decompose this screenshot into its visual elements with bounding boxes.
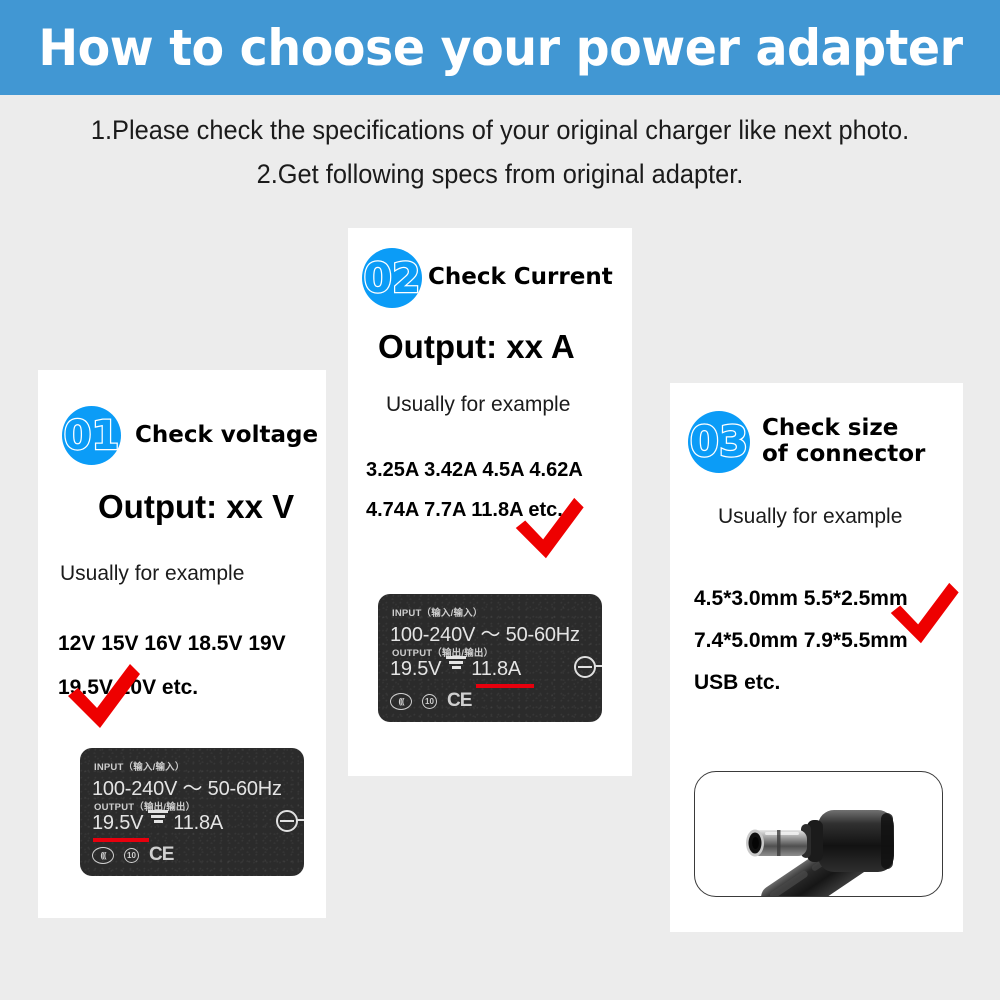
card1-plate-input-label: INPUT（输入/输入） <box>94 759 185 773</box>
center-negative-polarity-icon <box>574 656 596 678</box>
card1-header: 01 Check voltage <box>62 406 318 465</box>
card1-plate-output-row: 19.5V 11.8A <box>92 812 223 835</box>
card1-output-line: Output: xx V <box>98 488 294 526</box>
step-badge-03: 03 <box>688 411 750 473</box>
card2-header: 02 Check Current <box>362 248 613 308</box>
card1-plate-input-value: 100-240V ～ 50-60Hz <box>92 772 282 801</box>
dc-barrel-plug-illustration <box>695 772 943 897</box>
card3-examples: 4.5*3.0mm 5.5*2.5mm 7.4*5.0mm 7.9*5.5mm … <box>694 578 908 704</box>
ccc-mark-icon: ((( <box>92 847 114 864</box>
card1-heading: Check voltage <box>135 423 318 449</box>
step-badge-02: 02 <box>362 248 422 308</box>
card2-plate-input-label: INPUT（输入/输入） <box>392 605 483 619</box>
card1-cert-marks: ((( 10 CE <box>92 844 173 866</box>
page-title: How to choose your power adapter <box>38 19 962 77</box>
card3-heading: Check size of connector <box>762 416 925 468</box>
card1-plate-output-voltage: 19.5V <box>92 812 143 835</box>
ten-mark-icon: 10 <box>124 848 139 863</box>
dc-current-icon <box>148 810 168 825</box>
card3-example-row-1: 4.5*3.0mm 5.5*2.5mm <box>694 578 908 620</box>
card1-adapter-label-plate: INPUT（输入/输入） 100-240V ～ 50-60Hz OUTPUT（输… <box>80 748 304 876</box>
card2-example-row-1: 3.25A 3.42A 4.5A 4.62A <box>366 450 583 490</box>
card2-plate-output-label: OUTPUT（输出/输出） <box>392 645 493 659</box>
card3-example-row-2: 7.4*5.0mm 7.9*5.5mm <box>694 620 908 662</box>
card2-example-row-2: 4.74A 7.7A 11.8A etc. <box>366 490 583 530</box>
card3-example-row-3: USB etc. <box>694 662 908 704</box>
intro-line-1: 1.Please check the specifications of you… <box>30 108 970 152</box>
card2-usually-label: Usually for example <box>386 393 570 417</box>
card2-cert-marks: ((( 10 CE <box>390 690 471 712</box>
dc-current-icon <box>446 656 466 671</box>
card1-plate-output-current: 11.8A <box>173 812 223 835</box>
card3-usually-label: Usually for example <box>718 505 902 529</box>
card1-usually-label: Usually for example <box>60 562 244 586</box>
card2-plate-input-value: 100-240V ～ 50-60Hz <box>390 618 580 647</box>
center-negative-polarity-icon <box>276 810 298 832</box>
page-banner: How to choose your power adapter <box>0 0 1000 95</box>
dc-barrel-plug-photo <box>694 771 943 897</box>
card3-header: 03 Check size of connector <box>688 411 925 473</box>
ce-mark-icon: CE <box>149 844 173 866</box>
card-check-voltage: 01 Check voltage Output: xx V Usually fo… <box>38 370 326 918</box>
step-badge-01: 01 <box>62 406 121 465</box>
card2-output-line: Output: xx A <box>378 328 575 366</box>
card2-heading: Check Current <box>428 265 613 291</box>
card2-plate-output-current: 11.8A <box>471 658 521 681</box>
card2-adapter-label-plate: INPUT（输入/输入） 100-240V ～ 50-60Hz OUTPUT（输… <box>378 594 602 722</box>
card1-examples: 12V 15V 16V 18.5V 19V 19.5V 20V etc. <box>58 622 286 710</box>
polarity-tail <box>296 819 304 821</box>
card-check-connector-size: 03 Check size of connector Usually for e… <box>670 383 963 932</box>
polarity-tail <box>594 665 602 667</box>
intro-line-2: 2.Get following specs from original adap… <box>30 152 970 196</box>
ccc-mark-icon: ((( <box>390 693 412 710</box>
card2-examples: 3.25A 3.42A 4.5A 4.62A 4.74A 7.7A 11.8A … <box>366 450 583 530</box>
card2-plate-output-voltage: 19.5V <box>390 658 441 681</box>
card1-plate-output-label: OUTPUT（输出/输出） <box>94 799 195 813</box>
card1-example-row-1: 12V 15V 16V 18.5V 19V <box>58 622 286 666</box>
card-check-current: 02 Check Current Output: xx A Usually fo… <box>348 228 632 776</box>
infographic-page: How to choose your power adapter 1.Pleas… <box>0 0 1000 1000</box>
intro-block: 1.Please check the specifications of you… <box>0 108 1000 196</box>
card1-voltage-underline <box>93 838 149 842</box>
ce-mark-icon: CE <box>447 690 471 712</box>
card2-plate-output-row: 19.5V 11.8A <box>390 658 521 681</box>
ten-mark-icon: 10 <box>422 694 437 709</box>
card2-current-underline <box>476 684 534 688</box>
card1-example-row-2: 19.5V 20V etc. <box>58 666 286 710</box>
